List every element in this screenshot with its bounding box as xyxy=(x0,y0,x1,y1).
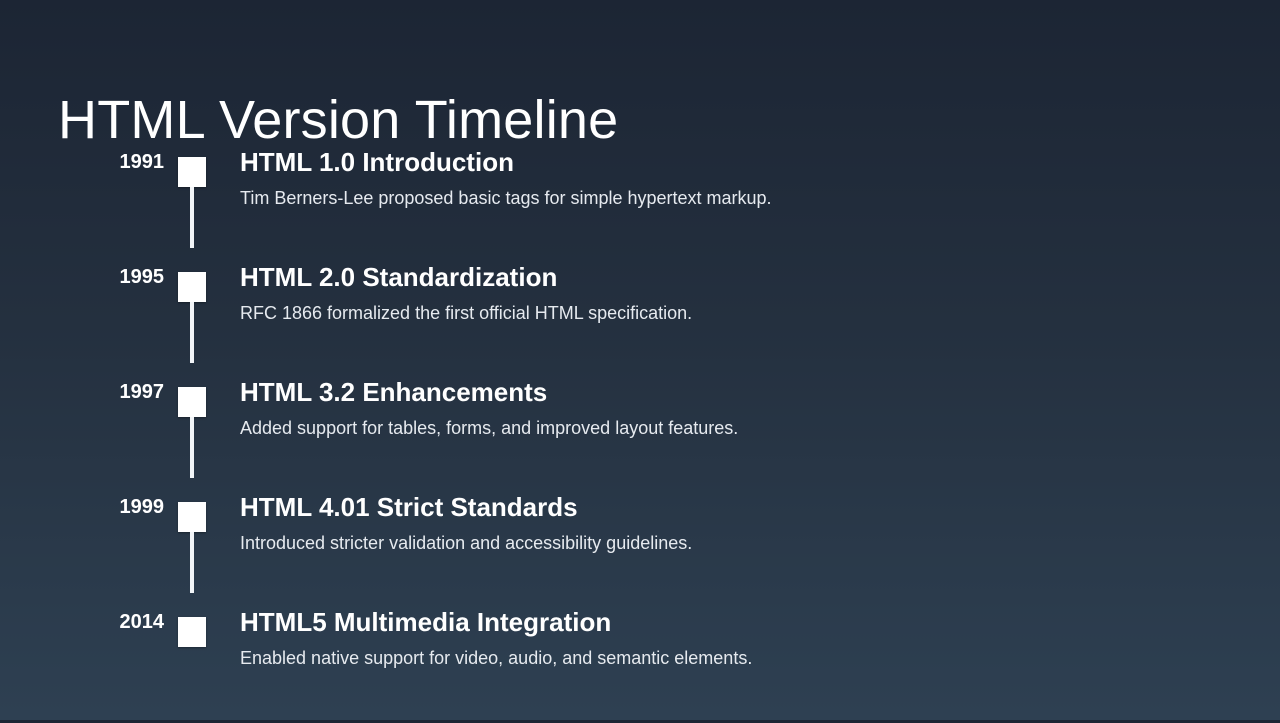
timeline-marker-square-icon xyxy=(178,617,206,647)
timeline-entry-year: 1995 xyxy=(0,267,164,287)
timeline-entry-year: 1991 xyxy=(0,152,164,172)
timeline-entry-body: HTML 2.0 Standardization RFC 1866 formal… xyxy=(240,263,1240,324)
timeline-entry: 1999 HTML 4.01 Strict Standards Introduc… xyxy=(0,493,1280,608)
timeline-marker-square-icon xyxy=(178,272,206,302)
timeline-entry-body: HTML5 Multimedia Integration Enabled nat… xyxy=(240,608,1240,669)
page-title: HTML Version Timeline xyxy=(58,93,618,147)
timeline-entry-body: HTML 3.2 Enhancements Added support for … xyxy=(240,378,1240,439)
timeline-entry-heading: HTML 4.01 Strict Standards xyxy=(240,493,1240,523)
timeline-entry-heading: HTML 2.0 Standardization xyxy=(240,263,1240,293)
timeline-entry-body: HTML 1.0 Introduction Tim Berners-Lee pr… xyxy=(240,148,1240,209)
timeline-marker-column xyxy=(178,493,208,608)
timeline-entry: 2014 HTML5 Multimedia Integration Enable… xyxy=(0,608,1280,723)
timeline-marker-column xyxy=(178,263,208,378)
timeline-entry-description: Added support for tables, forms, and imp… xyxy=(240,418,1240,440)
timeline-marker-column xyxy=(178,378,208,493)
timeline-marker-square-icon xyxy=(178,387,206,417)
timeline-entry-year: 1999 xyxy=(0,497,164,517)
timeline-marker-column xyxy=(178,608,208,723)
timeline-entry-description: RFC 1866 formalized the first official H… xyxy=(240,303,1240,325)
timeline-entry-description: Introduced stricter validation and acces… xyxy=(240,533,1240,555)
timeline-entry-body: HTML 4.01 Strict Standards Introduced st… xyxy=(240,493,1240,554)
timeline-entry-year: 1997 xyxy=(0,382,164,402)
timeline-connector-line xyxy=(190,187,194,248)
timeline-entry-heading: HTML 3.2 Enhancements xyxy=(240,378,1240,408)
timeline-marker-square-icon xyxy=(178,157,206,187)
timeline-marker-square-icon xyxy=(178,502,206,532)
timeline-connector-line xyxy=(190,302,194,363)
timeline-entry-description: Enabled native support for video, audio,… xyxy=(240,648,1240,670)
timeline-entry-heading: HTML5 Multimedia Integration xyxy=(240,608,1240,638)
timeline-entry-heading: HTML 1.0 Introduction xyxy=(240,148,1240,178)
timeline-list: 1991 HTML 1.0 Introduction Tim Berners-L… xyxy=(0,148,1280,723)
timeline-slide: HTML Version Timeline 1991 HTML 1.0 Intr… xyxy=(0,0,1280,720)
timeline-connector-line xyxy=(190,532,194,593)
timeline-entry-year: 2014 xyxy=(0,612,164,632)
timeline-entry: 1991 HTML 1.0 Introduction Tim Berners-L… xyxy=(0,148,1280,263)
timeline-connector-line xyxy=(190,417,194,478)
timeline-entry-description: Tim Berners-Lee proposed basic tags for … xyxy=(240,188,1240,210)
timeline-entry: 1997 HTML 3.2 Enhancements Added support… xyxy=(0,378,1280,493)
timeline-entry: 1995 HTML 2.0 Standardization RFC 1866 f… xyxy=(0,263,1280,378)
timeline-marker-column xyxy=(178,148,208,263)
